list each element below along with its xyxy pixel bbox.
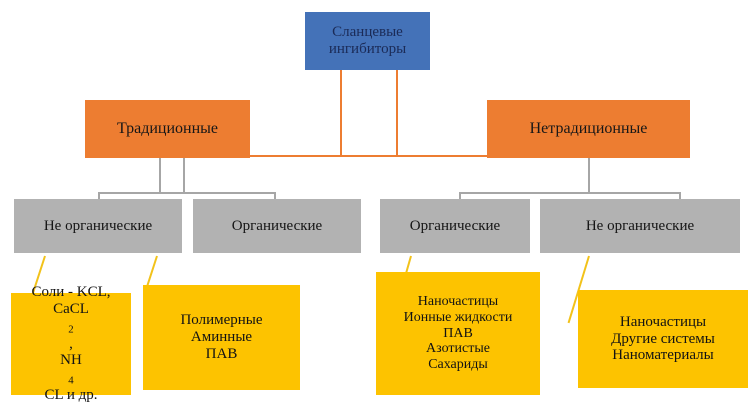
leaf-node-salts[interactable]: Соли - KCL, CaCL2, NH4CL и др. (11, 293, 131, 395)
connector-root-right-vertical (396, 70, 398, 156)
leaf-salts-line1: Соли - KCL, (11, 284, 131, 301)
leaf-nano-inorganic-line1: Наночастицы (578, 314, 748, 331)
connector-category-spine (250, 155, 490, 157)
leaf-salts-line3-prefix: NH (11, 352, 131, 369)
root-label-line1: Сланцевые (305, 24, 430, 41)
shale-inhibitors-diagram: Сланцевые ингибиторы Традиционные Нетрад… (0, 0, 756, 403)
subcategory-node-traditional-organic[interactable]: Органические (193, 199, 361, 253)
connector-bracket-trad-right-drop (274, 192, 276, 199)
leaf-salts-line3-subscript: 4 (68, 375, 73, 387)
leaf-salts-line2-prefix: CaCL (11, 301, 131, 318)
subcategory-node-traditional-inorganic[interactable]: Не органические (14, 199, 182, 253)
leaf-nano-inorganic-line2: Другие системы (578, 331, 748, 348)
connector-nontraditional-down (588, 158, 590, 194)
subcategory-label-3: Органические (410, 218, 500, 235)
root-node-shale-inhibitors[interactable]: Сланцевые ингибиторы (305, 12, 430, 70)
leaf-salts-line2: CaCL2, (11, 301, 131, 352)
connector-traditional-down-right (183, 158, 185, 194)
subcategory-label-4: Не органические (586, 218, 694, 235)
connector-root-left-vertical (340, 70, 342, 156)
leaf-node-polymers[interactable]: Полимерные Аминные ПАВ (143, 285, 300, 390)
root-label-line2: ингибиторы (305, 41, 430, 58)
leaf-nano-inorganic-line3: Наноматериалы (578, 347, 748, 364)
connector-traditional-bracket (98, 192, 276, 194)
category-label-nontraditional: Нетрадиционные (530, 120, 648, 138)
leaf-salts-line3: NH4CL и др. (11, 352, 131, 403)
subcategory-label-1: Не органические (44, 218, 152, 235)
connector-bracket-trad-left-drop (98, 192, 100, 199)
leaf-polymers-line3: ПАВ (143, 346, 300, 363)
category-label-traditional: Традиционные (117, 120, 218, 138)
connector-leaf-polymers (146, 256, 158, 289)
leaf-polymers-line1: Полимерные (143, 312, 300, 329)
leaf-nano-organic-line2: Ионные жидкости (376, 310, 540, 326)
category-node-traditional[interactable]: Традиционные (85, 100, 250, 158)
subcategory-node-nontraditional-organic[interactable]: Органические (380, 199, 530, 253)
leaf-salts-line3-suffix: CL и др. (11, 387, 131, 403)
leaf-nano-organic-line3: ПАВ (376, 326, 540, 342)
leaf-nano-organic-line5: Сахариды (376, 357, 540, 373)
leaf-salts-line2-suffix: , (11, 336, 131, 353)
subcategory-label-2: Органические (232, 218, 322, 235)
connector-nontraditional-bracket (459, 192, 681, 194)
category-node-nontraditional[interactable]: Нетрадиционные (487, 100, 690, 158)
leaf-node-nano-organic[interactable]: Наночастицы Ионные жидкости ПАВ Азотисты… (376, 272, 540, 395)
subcategory-node-nontraditional-inorganic[interactable]: Не органические (540, 199, 740, 253)
leaf-node-nano-inorganic[interactable]: Наночастицы Другие системы Наноматериалы (578, 290, 748, 388)
leaf-polymers-line2: Аминные (143, 329, 300, 346)
connector-traditional-down-left (159, 158, 161, 194)
leaf-nano-organic-line1: Наночастицы (376, 294, 540, 310)
leaf-nano-organic-line4: Азотистые (376, 341, 540, 357)
leaf-salts-line2-subscript: 2 (68, 324, 73, 336)
